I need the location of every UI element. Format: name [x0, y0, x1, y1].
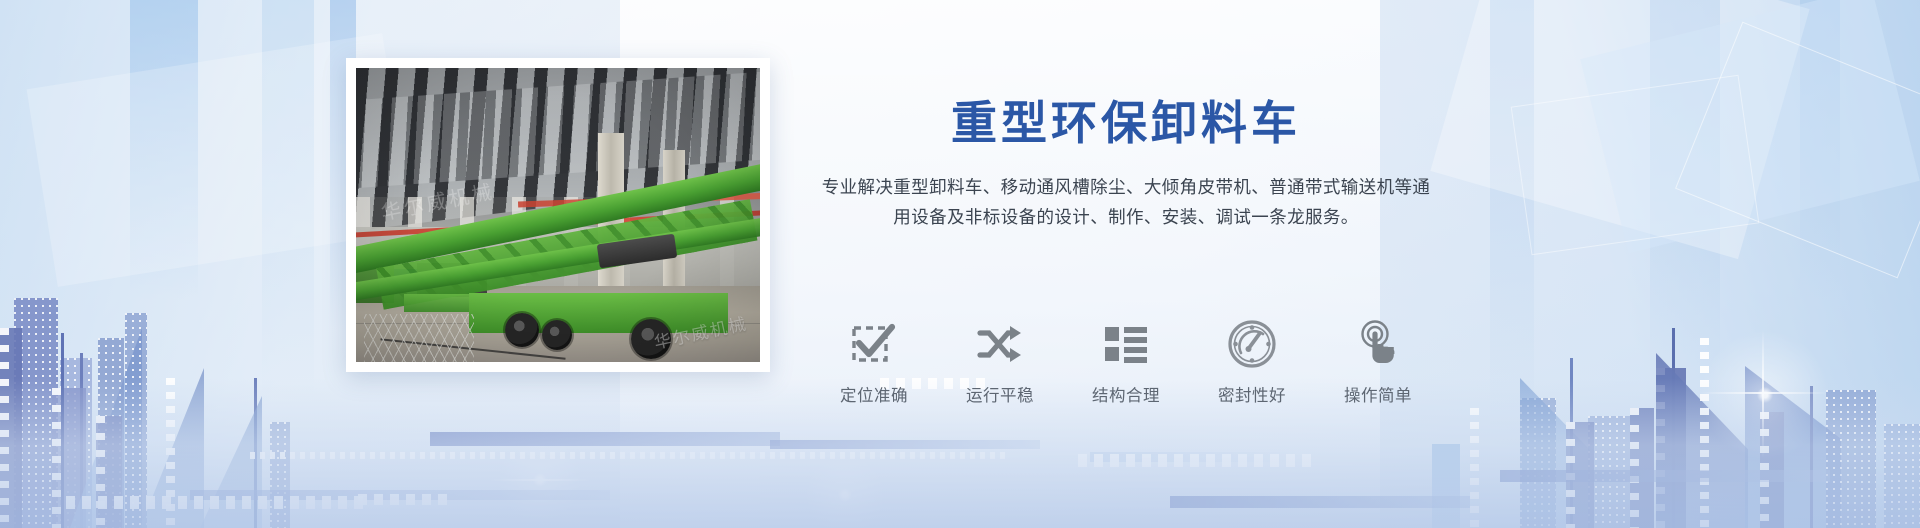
page-title: 重型环保卸料车 [818, 96, 1434, 150]
building-dot-column [1470, 408, 1479, 528]
background-stripe [1800, 0, 1840, 300]
building-spire [80, 353, 83, 528]
touch-hand-icon [1352, 318, 1404, 370]
light-flare-streak [1700, 392, 1828, 394]
background-artwork [0, 0, 1920, 528]
feature-item-smooth-operation[interactable]: 运行平稳 [944, 318, 1056, 406]
decor-bar [430, 432, 780, 446]
building-dot-column [1700, 338, 1709, 528]
decor-dashed-bar [66, 496, 366, 509]
building-block [60, 358, 92, 528]
background-stripe [262, 0, 314, 400]
building-block [1884, 424, 1920, 528]
building-block [98, 338, 124, 528]
building-block [0, 328, 22, 528]
background-stripe [1650, 0, 1720, 380]
background-facet [1580, 0, 1919, 253]
feature-label: 定位准确 [840, 382, 908, 406]
background-facet [1430, 0, 1809, 259]
checkmark-box-icon [848, 318, 900, 370]
light-flare-icon [790, 440, 900, 528]
building-block [1656, 368, 1686, 528]
building-block [270, 422, 290, 528]
shuffle-arrows-icon [974, 318, 1026, 370]
background-wash-right [1220, 0, 1920, 528]
building-dot-column [166, 378, 175, 528]
building-wedge [1520, 378, 1590, 528]
feature-item-positioning[interactable]: 定位准确 [818, 318, 930, 406]
light-flare-icon [480, 420, 600, 528]
page-description: 专业解决重型卸料车、移动通风槽除尘、大倾角皮带机、普通带式输送机等通用设备及非标… [818, 172, 1434, 232]
building-spire [80, 368, 83, 528]
building-block [14, 298, 58, 528]
background-facet [1675, 22, 1920, 279]
building-block [1566, 422, 1594, 528]
building-spire [1810, 386, 1813, 528]
building-spire [254, 378, 257, 528]
decor-dashed-bar [358, 494, 448, 505]
feature-list: 定位准确 运行平稳 [818, 318, 1434, 406]
building-wedge [140, 368, 204, 528]
background-stripe [1490, 0, 1534, 430]
building-block [1760, 412, 1784, 528]
decor-bar [1500, 470, 1830, 482]
building-wedge [70, 328, 142, 528]
product-photo-card: 华尔威机械 华尔威机械 [346, 58, 770, 372]
decor-bar [1170, 496, 1470, 508]
seal-gauge-icon [1226, 318, 1278, 370]
feature-item-easy-operation[interactable]: 操作简单 [1322, 318, 1434, 406]
feature-label: 结构合理 [1092, 382, 1160, 406]
building-block [1432, 444, 1460, 528]
decor-bar [190, 490, 610, 500]
light-flare-streak [490, 479, 590, 481]
background-stripe [130, 0, 198, 300]
feature-item-structure[interactable]: 结构合理 [1070, 318, 1182, 406]
building-block [96, 416, 122, 528]
building-block [125, 313, 147, 528]
product-photo: 华尔威机械 华尔威机械 [356, 68, 760, 362]
building-spire [1672, 328, 1675, 528]
feature-label: 密封性好 [1218, 382, 1286, 406]
hero-text-block: 重型环保卸料车 专业解决重型卸料车、移动通风槽除尘、大倾角皮带机、普通带式输送机… [818, 96, 1434, 232]
building-wedge [200, 396, 262, 528]
feature-item-sealing[interactable]: 密封性好 [1196, 318, 1308, 406]
building-block [1826, 390, 1876, 528]
light-flare-icon [1670, 300, 1860, 490]
building-block [1588, 416, 1630, 528]
building-block [1520, 398, 1556, 528]
feature-label: 操作简单 [1344, 382, 1412, 406]
light-flare-streak [1762, 330, 1764, 458]
grid-blocks-icon [1100, 318, 1152, 370]
product-hero-banner: 华尔威机械 华尔威机械 重型环保卸料车 专业解决重型卸料车、移动通风槽除尘、大倾… [0, 0, 1920, 528]
photo-vignette [356, 68, 760, 362]
building-wedge [1745, 366, 1841, 528]
decor-bar [770, 440, 1040, 449]
background-facet [1511, 75, 1760, 256]
building-spire [61, 333, 64, 528]
feature-label: 运行平稳 [966, 382, 1034, 406]
building-spire [1570, 358, 1573, 528]
building-wedge [1656, 353, 1748, 528]
decor-dashed-bar [1078, 454, 1313, 467]
decor-dot-row [250, 452, 1010, 459]
decor-bar [1090, 452, 1300, 462]
building-block [1630, 408, 1654, 528]
building-block [52, 388, 86, 528]
